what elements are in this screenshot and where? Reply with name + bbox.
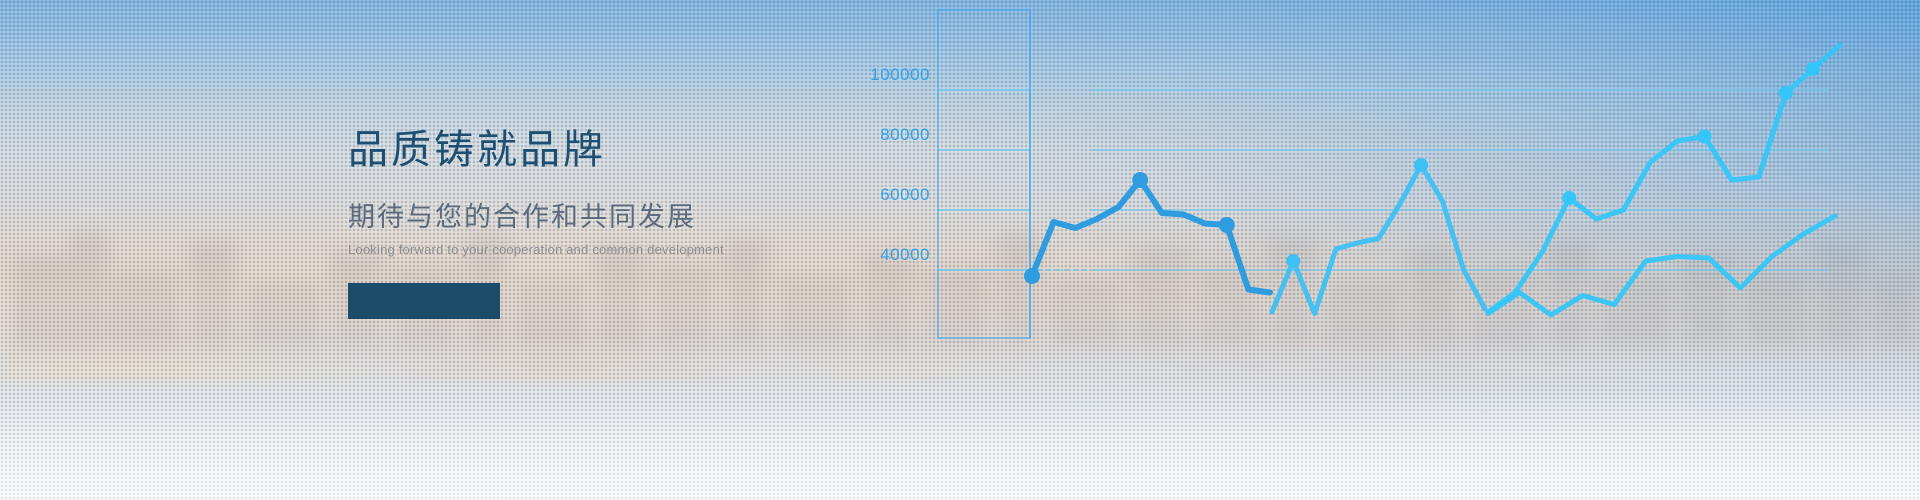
chart-series-group (1024, 45, 1840, 315)
chart-data-point (1414, 158, 1428, 172)
chart-line-series-3-light-blue (1488, 45, 1840, 312)
banner-subtitle-cn: 期待与您的合作和共同发展 (348, 201, 868, 233)
chart-data-point (1779, 86, 1793, 100)
chart-data-point (1132, 172, 1148, 188)
chart-y-axis-ticks: 100000800006000040000 (870, 65, 930, 264)
chart-line-series-2-mid-blue (1272, 158, 1485, 314)
chart-data-point (1286, 254, 1300, 268)
chart-svg: 100000800006000040000 (820, 0, 1920, 500)
y-tick-label: 40000 (880, 245, 930, 264)
hero-banner: 品质铸就品牌 期待与您的合作和共同发展 Looking forward to y… (0, 0, 1920, 500)
chart-axis-box (938, 10, 1030, 338)
cta-button[interactable] (348, 283, 500, 319)
chart-data-point (1219, 217, 1235, 233)
chart-gridlines (938, 90, 1828, 270)
y-tick-label: 60000 (880, 185, 930, 204)
chart-line-series-4-lower-light-blue (1488, 216, 1835, 315)
y-tick-label: 100000 (870, 65, 930, 84)
chart-line-series-1-dark-blue (1024, 172, 1270, 293)
chart-data-point (1562, 191, 1576, 205)
y-tick-label: 80000 (880, 125, 930, 144)
banner-text-block: 品质铸就品牌 期待与您的合作和共同发展 Looking forward to y… (348, 128, 868, 319)
page-title: 品质铸就品牌 (348, 128, 868, 173)
chart-data-point (1698, 130, 1712, 144)
banner-subtitle-en: Looking forward to your cooperation and … (348, 242, 868, 259)
line-chart: 100000800006000040000 (820, 0, 1920, 500)
chart-data-point (1024, 268, 1040, 284)
chart-data-point (1806, 62, 1820, 76)
